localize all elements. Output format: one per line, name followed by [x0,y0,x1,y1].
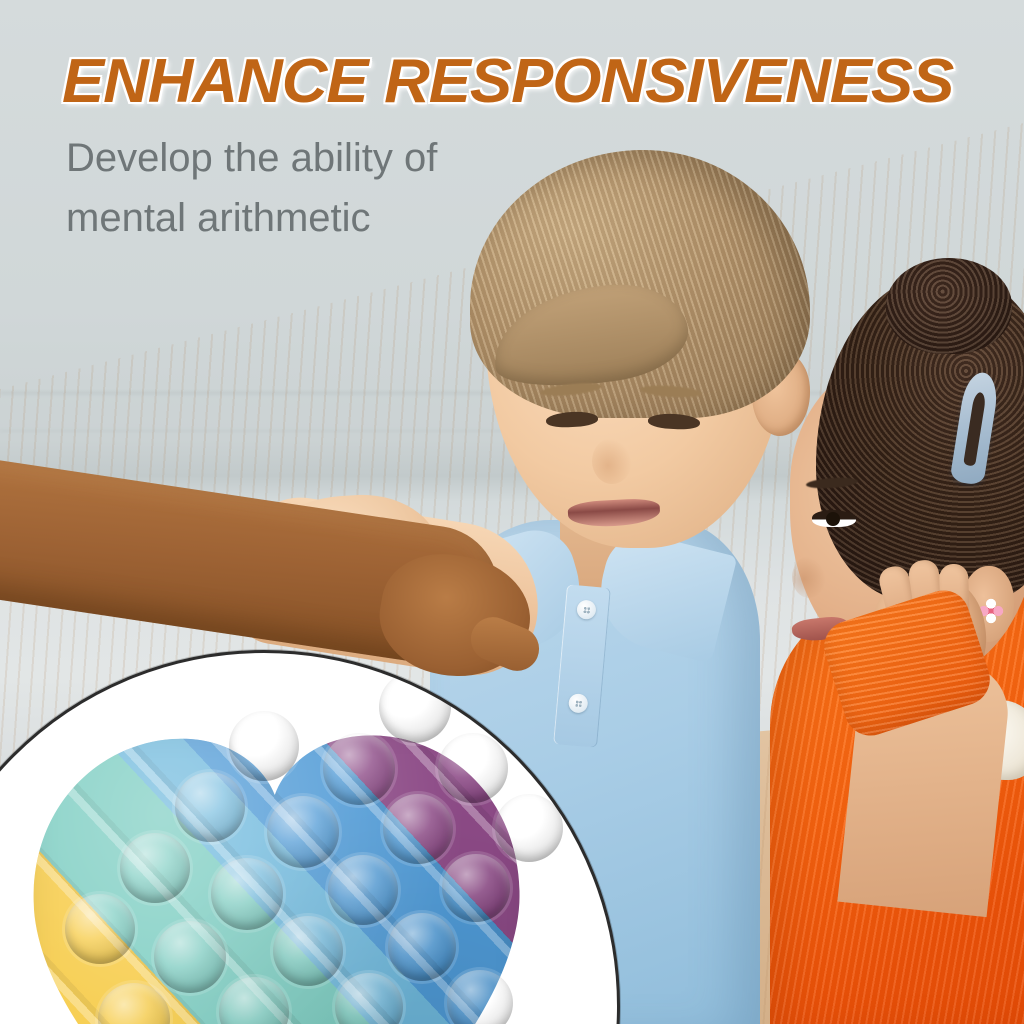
popit-bubble [175,772,245,842]
popit-bubble [154,921,226,993]
shirt-button [568,693,589,714]
popit-bubble [388,913,456,981]
popit-bubble [442,854,510,922]
popit-bubble-grid [23,719,533,1024]
popit-bubble [211,858,283,930]
girl-eye [812,510,856,527]
popit-bubble [65,894,135,964]
popit-bubble [328,855,398,925]
popit-bubble [120,833,190,903]
popit-bubble [219,977,289,1024]
marketing-banner: ENHANCE RESPONSIVENESS Develop the abili… [0,0,1024,1024]
popit-heart-toy [23,719,533,1024]
page-subtitle: Develop the ability of mental arithmetic [66,128,437,248]
girl-nose [792,556,826,598]
popit-bubble [383,794,453,864]
popit-bubble [98,983,170,1024]
boy-nose [592,438,632,484]
popit-bubble [229,711,299,781]
popit-bubble [495,794,563,862]
popit-bubble [379,671,451,743]
popit-bubble [438,733,508,803]
popit-bubble [267,796,339,868]
girl-hair-bun [886,258,1012,354]
popit-bubble [273,916,343,986]
popit-bubble [335,973,403,1024]
popit-bubble [323,733,395,805]
popit-bubble [447,970,513,1024]
shirt-button [576,599,597,620]
page-title: ENHANCE RESPONSIVENESS [62,46,953,117]
